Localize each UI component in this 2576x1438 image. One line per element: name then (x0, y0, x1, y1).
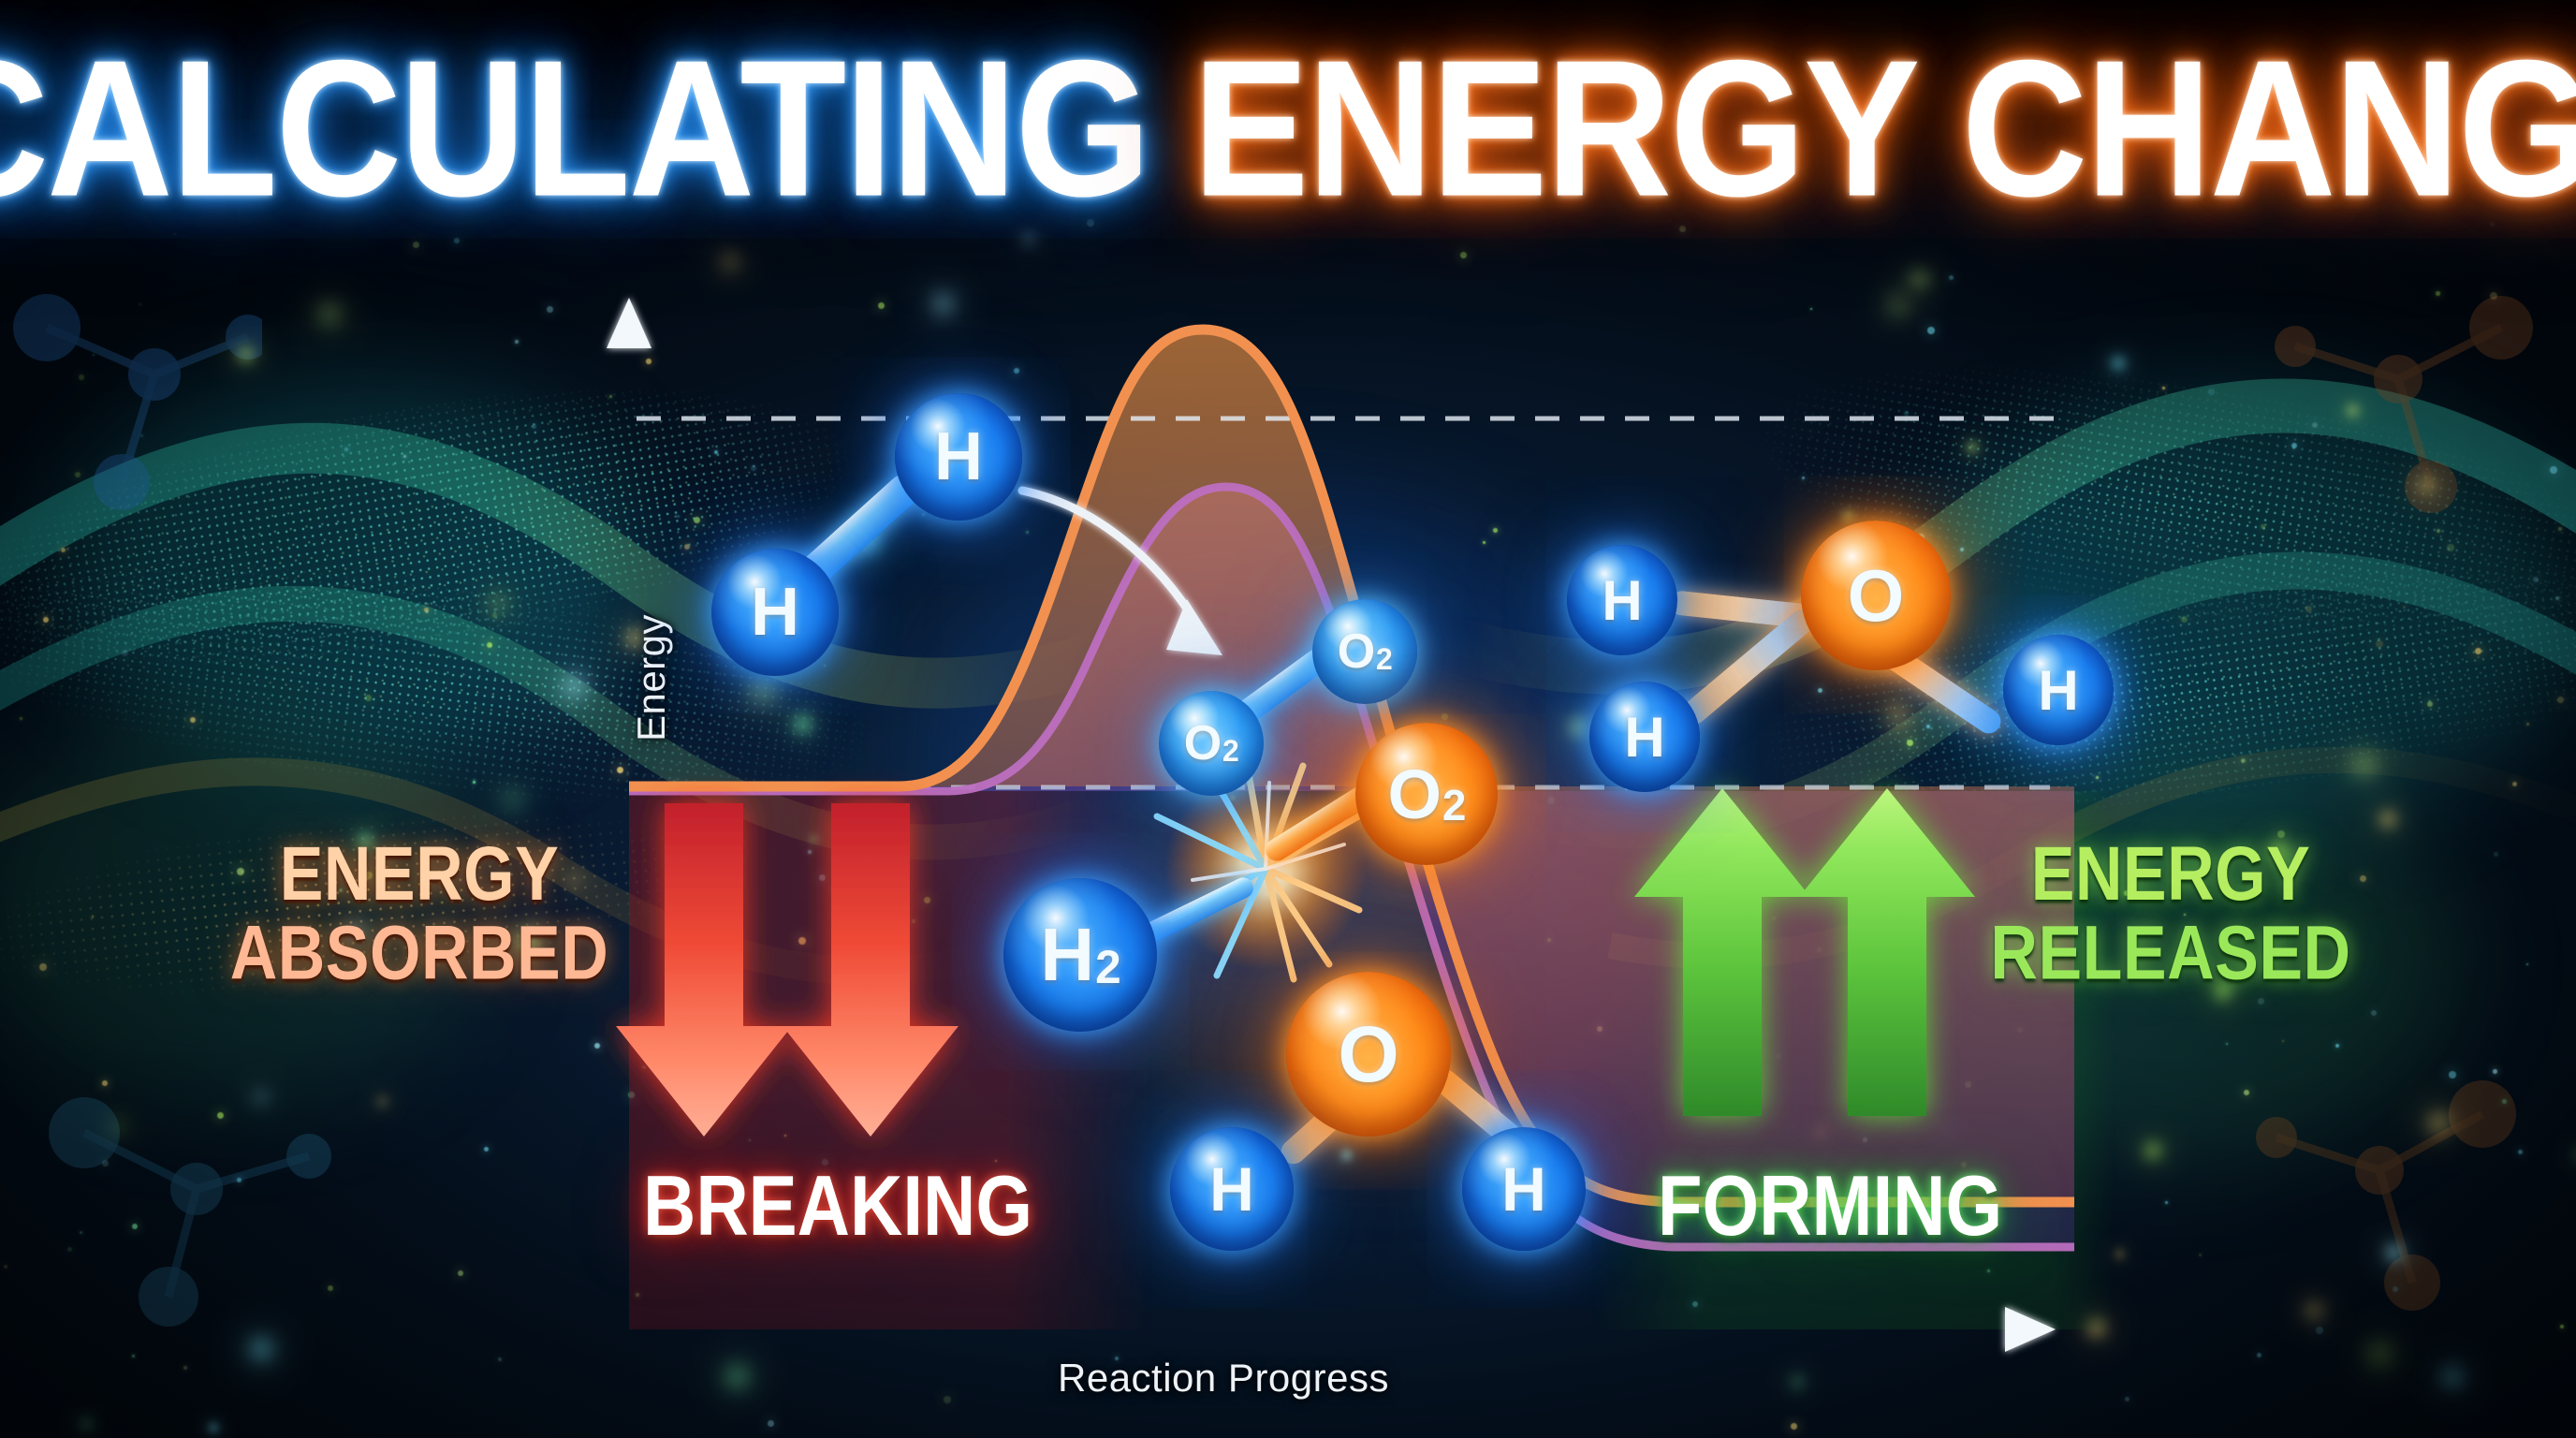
arrow-down-icon (616, 803, 792, 1137)
atom-symbol: H (1040, 912, 1094, 998)
energy-absorbed-line-1: ENERGY (280, 831, 560, 916)
atom-symbol: O (1338, 1009, 1398, 1100)
bond-forming-label: FORMING (1633, 1163, 2027, 1251)
atom-hydrogen: H (2003, 635, 2114, 745)
atom-hydrogen: H (1170, 1127, 1294, 1251)
arrow-down-icon (783, 803, 959, 1137)
atom-hydrogen: H (711, 549, 839, 676)
atom-symbol: H (751, 574, 799, 651)
atom-oxygen-blue: O2 (1312, 599, 1417, 704)
atom-hydrogen: H (1589, 682, 1700, 792)
arrow-right-icon (2005, 1307, 2056, 1352)
atom-hydrogen: H (895, 393, 1022, 521)
energy-released-line-1: ENERGY (2031, 831, 2311, 916)
x-axis-label: Reaction Progress (1058, 1356, 1389, 1401)
atom-symbol: H (2038, 658, 2078, 723)
arrow-up-icon (607, 298, 651, 348)
atom-symbol: O (1338, 624, 1375, 680)
atom-o2: O2 (1355, 723, 1498, 865)
atom-h2: H2 (1003, 878, 1157, 1032)
atom-hydrogen: H (1567, 545, 1677, 655)
atom-symbol: H (934, 418, 983, 495)
atom-subscript: 2 (1222, 734, 1239, 769)
atom-subscript: 2 (1376, 642, 1393, 677)
atom-symbol: H (1501, 1153, 1546, 1225)
x-axis (629, 1307, 2056, 1352)
atom-oxygen: O (1286, 972, 1451, 1137)
atom-symbol: O (1387, 755, 1442, 834)
water-molecule-product-top: O H H H (1554, 494, 2022, 813)
hydrogen-molecule-reactant: H H (711, 393, 1020, 655)
bond-breaking-arrows (616, 803, 959, 1137)
y-axis-label: Energy (629, 575, 674, 781)
atom-symbol: H (1602, 568, 1642, 633)
water-molecule-product-bottom: O H H (1176, 964, 1606, 1245)
atom-subscript: 2 (1095, 940, 1121, 994)
bond-breaking-label: BREAKING (618, 1163, 1058, 1251)
o2-colliding-molecule: O2 (1299, 723, 1580, 910)
atom-oxygen-blue: O2 (1159, 691, 1264, 796)
atom-symbol: H (1209, 1153, 1254, 1225)
atom-subscript: 2 (1442, 780, 1467, 830)
energy-released-line-2: RELEASED (1960, 914, 2381, 992)
infographic-canvas: CALCULATINGENERGY CHANGES (0, 0, 2576, 1438)
energy-absorbed-line-2: ABSORBED (213, 914, 625, 992)
atom-symbol: H (1624, 705, 1664, 770)
atom-oxygen: O (1801, 521, 1951, 670)
atom-hydrogen: H (1462, 1127, 1586, 1251)
atom-symbol: O (1184, 715, 1222, 771)
o-h-bond (1677, 605, 1820, 729)
energy-absorbed-label: ENERGY ABSORBED (213, 834, 625, 992)
energy-released-label: ENERGY RELEASED (1960, 834, 2381, 992)
atom-symbol: O (1848, 553, 1905, 638)
